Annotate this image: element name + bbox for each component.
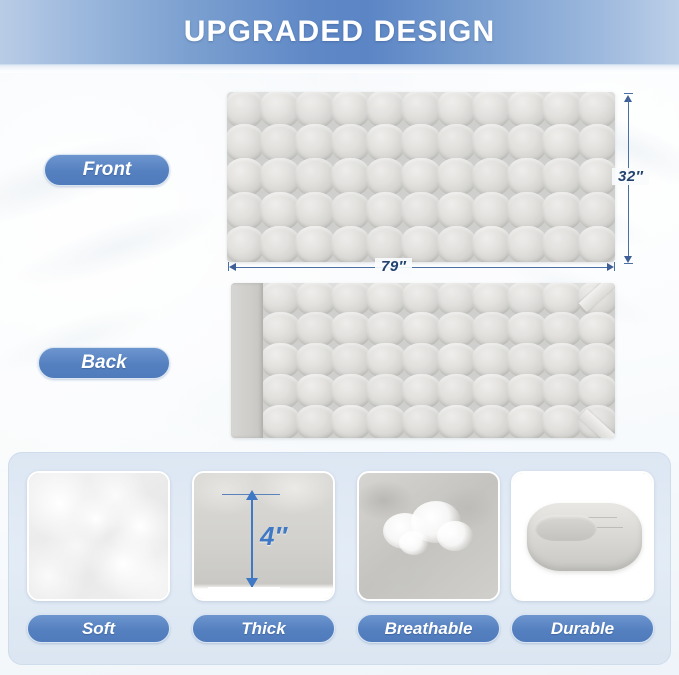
quilt-puff (261, 283, 300, 316)
dim-tick-top (624, 93, 633, 94)
feature-label-soft: Soft (27, 614, 170, 643)
dim-tick-right (614, 262, 615, 271)
quilt-puff (507, 92, 547, 128)
quilt-puff (296, 343, 335, 378)
front-view-label: Front (44, 154, 170, 186)
feature-label-durable: Durable (511, 614, 654, 643)
quilt-puff (261, 343, 300, 378)
dim-tick-bottom (624, 263, 633, 264)
quilt-puff (331, 226, 371, 262)
quilt-puff (295, 124, 335, 162)
page-title: UPGRADED DESIGN (184, 15, 496, 49)
quilt-puff (507, 226, 547, 262)
dim-arrow-down (624, 256, 632, 263)
quilt-puff (261, 374, 300, 409)
quilt-puff (227, 192, 264, 230)
quilt-puff (401, 124, 441, 162)
air-puff-3 (437, 521, 473, 551)
quilt-puff (542, 158, 582, 196)
quilt-puff (472, 405, 511, 438)
quilt-puff (296, 283, 335, 316)
quilt-puff (542, 312, 581, 347)
rolled-mattress-icon (511, 471, 654, 601)
quilt-puff (296, 312, 335, 347)
quilt-puff (437, 158, 477, 196)
front-view-label-text: Front (83, 159, 132, 181)
quilt-puff (542, 374, 581, 409)
mattress-side-edge (231, 283, 263, 438)
quilt-puff (366, 124, 406, 162)
feature-label-thick: Thick (192, 614, 335, 643)
quilt-puff (437, 124, 477, 162)
quilt-puff (295, 158, 335, 196)
quilt-puff (366, 312, 405, 347)
quilt-puff (542, 405, 581, 438)
quilt-puff (331, 192, 371, 230)
quilt-puff (578, 374, 615, 409)
thickness-value-label: 4″ (260, 521, 287, 552)
quilt-puff (260, 92, 300, 128)
quilt-puff (331, 92, 371, 128)
quilt-puff (472, 226, 512, 262)
quilt-puff (402, 374, 441, 409)
quilt-puff (578, 192, 615, 230)
quilt-puff (472, 192, 512, 230)
quilt-puff (296, 374, 335, 409)
back-view-label-text: Back (81, 352, 126, 374)
dim-line-horizontal (236, 267, 612, 268)
quilt-puff (542, 226, 582, 262)
quilt-puff (507, 283, 546, 316)
quilt-puff (227, 158, 264, 196)
quilt-puff (331, 158, 371, 196)
quilt-puff (507, 374, 546, 409)
quilt-puff (507, 158, 547, 196)
fiberfill-texture (29, 473, 168, 599)
quilt-puff (402, 343, 441, 378)
feature-card-breathable: Breathable (357, 471, 500, 643)
quilt-puff (260, 158, 300, 196)
quilt-puff (507, 343, 546, 378)
quilt-puff (472, 312, 511, 347)
quilt-puff (472, 283, 511, 316)
thickness-bottom-guide (208, 587, 280, 589)
quilt-puff (437, 192, 477, 230)
quilt-puff (402, 312, 441, 347)
quilt-puff (295, 92, 335, 128)
quilt-puff (437, 312, 476, 347)
quilted-surface-back (231, 283, 615, 438)
quilt-puff (366, 374, 405, 409)
quilt-puff (366, 226, 406, 262)
feature-card-durable: Durable (511, 471, 654, 643)
dim-arrow-left (229, 263, 236, 271)
quilt-puff (578, 92, 615, 128)
quilt-puff (366, 192, 406, 230)
quilt-puff (401, 226, 441, 262)
quilt-puff (261, 405, 300, 438)
quilt-puff (437, 92, 477, 128)
quilt-puff (295, 192, 335, 230)
rolled-mattress-fold (535, 515, 597, 541)
back-view-label: Back (38, 347, 170, 379)
quilt-puff (227, 92, 264, 128)
quilt-puff (366, 158, 406, 196)
quilt-puff (507, 124, 547, 162)
dimension-width-label: 79″ (375, 258, 412, 275)
quilt-puff (437, 405, 476, 438)
dim-arrow-right (607, 263, 614, 271)
quilt-puff (260, 192, 300, 230)
feature-label-breathable: Breathable (357, 614, 500, 643)
quilt-puff (437, 343, 476, 378)
quilt-puff (542, 92, 582, 128)
quilt-puff (401, 158, 441, 196)
quilt-puff (366, 92, 406, 128)
quilt-puff (401, 192, 441, 230)
header-banner: UPGRADED DESIGN (0, 0, 679, 64)
quilt-puff (331, 374, 370, 409)
quilt-puff (507, 405, 546, 438)
quilt-puff (402, 405, 441, 438)
mattress-front-image (227, 92, 615, 262)
feature-label-thick-text: Thick (241, 619, 285, 639)
quilt-puff (227, 226, 264, 262)
feature-card-soft: Soft (27, 471, 170, 643)
quilt-puff (331, 405, 370, 438)
quilt-puff (542, 283, 581, 316)
header-underline-divider (0, 64, 679, 73)
quilt-puff (227, 124, 264, 162)
quilt-puff (366, 405, 405, 438)
quilt-puff (401, 92, 441, 128)
quilted-surface-front (227, 92, 615, 262)
quilt-puff (437, 226, 477, 262)
thickness-arrow-up (246, 490, 258, 500)
quilt-puff (437, 374, 476, 409)
features-panel: Soft 4″ Thick (8, 452, 671, 665)
feature-label-soft-text: Soft (82, 619, 115, 639)
quilt-puff (331, 343, 370, 378)
quilt-puff (331, 312, 370, 347)
thickness-arrow-line (251, 495, 253, 587)
feature-card-thick: 4″ Thick (192, 471, 335, 643)
quilt-puff (472, 124, 512, 162)
quilt-puff (472, 92, 512, 128)
thickness-measure-icon: 4″ (192, 471, 335, 601)
quilt-puff (472, 374, 511, 409)
quilt-puff (507, 192, 547, 230)
air-puff-4 (399, 531, 429, 555)
quilt-puff (331, 124, 371, 162)
dimension-height-label: 32″ (612, 168, 649, 185)
quilt-puff (366, 283, 405, 316)
quilt-puff (472, 158, 512, 196)
quilt-puff (366, 343, 405, 378)
quilt-puff (261, 312, 300, 347)
quilt-puff (437, 283, 476, 316)
quilt-puff (542, 343, 581, 378)
fiberfill-icon (27, 471, 170, 601)
quilt-puff (402, 283, 441, 316)
quilt-puff (331, 283, 370, 316)
quilt-puff (542, 192, 582, 230)
quilt-puff (295, 226, 335, 262)
quilt-puff (296, 405, 335, 438)
infographic-page: UPGRADED DESIGN Front 32″ 79″ Back (0, 0, 679, 675)
quilt-puff (578, 312, 615, 347)
quilt-puff (578, 158, 615, 196)
quilt-puff (578, 343, 615, 378)
quilt-puff (542, 124, 582, 162)
quilt-puff (507, 312, 546, 347)
airflow-puff-icon (357, 471, 500, 601)
quilt-puff (578, 124, 615, 162)
quilt-puff (578, 226, 615, 262)
quilt-puff (260, 226, 300, 262)
feature-label-breathable-text: Breathable (385, 619, 473, 639)
quilt-puff (260, 124, 300, 162)
mattress-back-image (231, 283, 615, 438)
feature-label-durable-text: Durable (551, 619, 614, 639)
quilt-puff (472, 343, 511, 378)
